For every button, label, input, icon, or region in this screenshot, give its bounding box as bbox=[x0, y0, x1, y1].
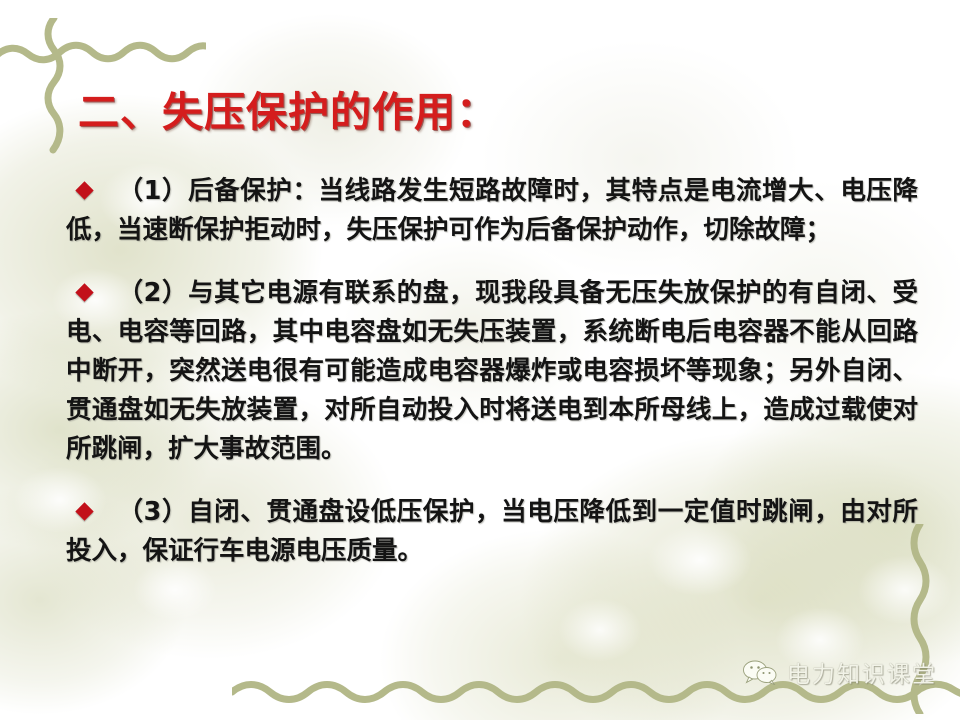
diamond-bullet-icon bbox=[75, 502, 93, 520]
bullet-paragraph-1: （1）后备保护：当线路发生短路故障时，其特点是电流增大、电压降低，当速断保护拒动… bbox=[66, 172, 918, 250]
diamond-bullet-icon bbox=[75, 181, 93, 199]
bullet-paragraph-2: （2）与其它电源有联系的盘，现我段具备无压失放保护的有自闭、受电、电容等回路，其… bbox=[66, 274, 918, 469]
watermark: 电力知识课堂 bbox=[742, 655, 937, 689]
watermark-label: 电力知识课堂 bbox=[787, 655, 937, 689]
decorative-wave-left-vertical bbox=[32, 18, 74, 154]
slide-canvas: 二、失压保护的作用： （1）后备保护：当线路发生短路故障时，其特点是电流增大、电… bbox=[0, 0, 960, 720]
content-body: （1）后备保护：当线路发生短路故障时，其特点是电流增大、电压降低，当速断保护拒动… bbox=[66, 172, 918, 571]
paragraph-text-1: （1）后备保护：当线路发生短路故障时，其特点是电流增大、电压降低，当速断保护拒动… bbox=[66, 176, 918, 245]
paragraph-text-3: （3）自闭、贯通盘设低压保护，当电压降低到一定值时跳闸，由对所投入，保证行车电源… bbox=[66, 497, 918, 566]
paragraph-text-2: （2）与其它电源有联系的盘，现我段具备无压失放保护的有自闭、受电、电容等回路，其… bbox=[66, 278, 918, 464]
bullet-paragraph-3: （3）自闭、贯通盘设低压保护，当电压降低到一定值时跳闸，由对所投入，保证行车电源… bbox=[66, 493, 918, 571]
decorative-wave-top-horizontal bbox=[0, 30, 206, 70]
decorative-wave-bottom-horizontal bbox=[232, 670, 960, 710]
wechat-icon bbox=[742, 659, 778, 685]
diamond-bullet-icon bbox=[75, 283, 93, 301]
page-title: 二、失压保护的作用： bbox=[78, 78, 498, 138]
